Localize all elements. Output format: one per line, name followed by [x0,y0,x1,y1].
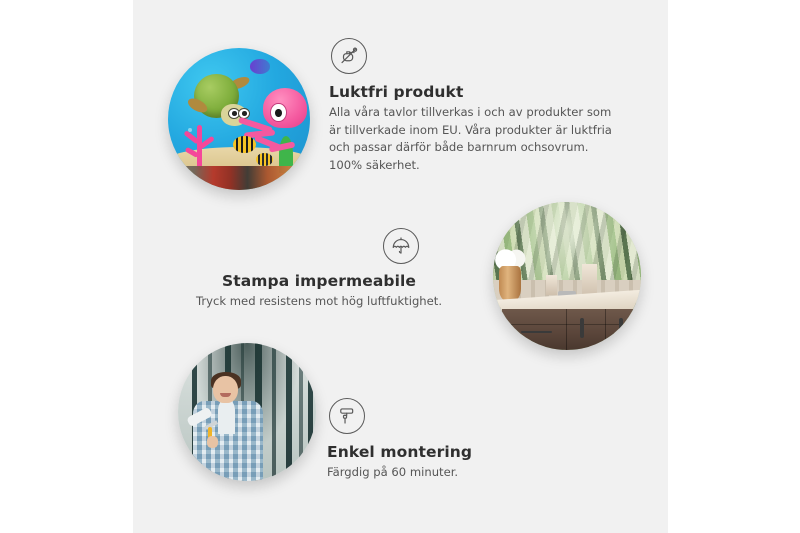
feature-odourless: Luktfri produkt Alla våra tavlor tillver… [329,38,621,174]
vanity-cabinet [502,309,641,350]
feature-waterproof: Stampa impermeabile Tryck med resistens … [153,228,485,311]
cabinet-handle [619,318,623,339]
no-odour-spray-bottle-icon [331,38,367,74]
photo-woman-with-paint-roller [178,343,316,481]
feature-easy-install: Enkel montering Färgdig på 60 minuter. [327,398,617,482]
drawer-handle [521,331,552,333]
striped-fish-icon [233,136,256,153]
soap-bottle [546,275,556,296]
hand [207,436,219,448]
feature-description: Alla våra tavlor tillverkas i och av pro… [329,104,621,174]
octopus-eye [270,103,286,122]
bathroom-scene [493,202,641,350]
content-area: Luktfri produkt Alla våra tavlor tillver… [133,0,668,533]
feature-title: Enkel montering [327,443,617,461]
feature-description: Tryck med resistens mot hög luftfuktighe… [153,293,485,311]
octopus-icon [248,88,308,153]
vase [499,266,521,302]
feature-title: Luktfri produkt [329,83,621,101]
coral-icon [179,125,219,170]
soap-bottle [582,264,597,297]
painter-scene [178,343,316,481]
smile [220,393,231,397]
face [213,376,238,404]
paint-roller-icon [329,398,365,434]
photo-underwater-cartoon-mural [168,48,310,190]
striped-fish-icon [256,153,273,166]
feature-description: Färgdig på 60 minuter. [327,464,617,482]
cabinet-handle [580,318,584,339]
product-feature-panel: Luktfri produkt Alla våra tavlor tillver… [0,0,800,533]
photo-bathroom-botanical-wallpaper [493,202,641,350]
umbrella-icon [383,228,419,264]
feature-title: Stampa impermeabile [153,272,485,290]
blue-fish-icon [250,59,270,73]
ocean-scene [168,48,310,190]
white-tshirt [218,401,235,433]
foreground-strip [168,166,310,190]
woman-figure [192,373,275,481]
